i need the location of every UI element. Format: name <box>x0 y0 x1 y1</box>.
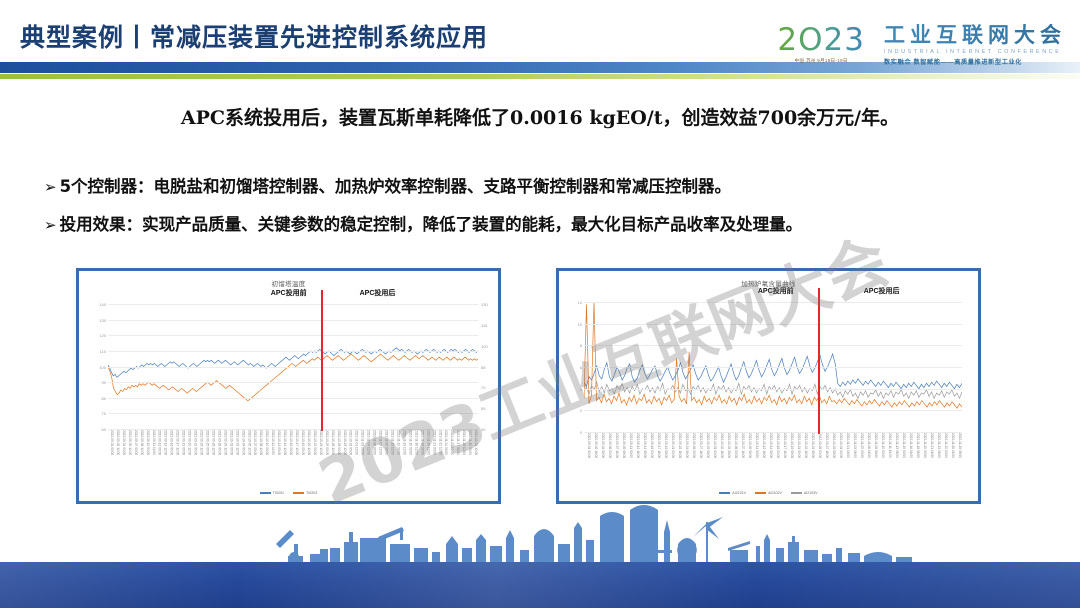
x-tick-label: 2022-10-17 16:00 <box>780 433 787 487</box>
chart-left-annotation-before: APC投用前 <box>271 288 307 298</box>
chart-right-apc-divider <box>818 288 820 434</box>
legend-item: TI0203 <box>293 491 317 495</box>
x-tick-label: 2022-09-01 00:00 <box>584 433 591 487</box>
legend-label: TI0201 <box>273 491 284 495</box>
x-tick-label: 2022-10-14 08:00 <box>766 433 773 487</box>
y-tick-label: 0 <box>568 430 582 435</box>
legend-swatch <box>719 492 730 493</box>
footer-water-band <box>0 562 1080 608</box>
y-tick-label: 10 <box>568 322 582 327</box>
x-tick-label: 2022-09-04 08:00 <box>598 433 605 487</box>
x-tick-label: 2022-10-01 00:00 <box>710 433 717 487</box>
x-tick-label: 2022-09-27 16:00 <box>696 433 703 487</box>
x-tick-label: 2022-10-29 08:00 <box>829 433 836 487</box>
x-tick-label: 2022-09-29 08:00 <box>703 433 710 487</box>
y-tick-label: 6 <box>568 365 582 370</box>
legend-item: AI2102V <box>755 491 782 495</box>
x-tick-label: 2022-10-07 16:00 <box>738 433 745 487</box>
logo-slogan: 数实融合 数智赋能——高质量推进新型工业化 <box>884 57 1066 66</box>
y-tick-label: 8 <box>568 343 582 348</box>
x-tick-label: 2022-10-06 00:00 <box>731 433 738 487</box>
x-tick-label: 2022-09-07 16:00 <box>612 433 619 487</box>
x-tick-label: 2022-11-16 16:00 <box>906 433 913 487</box>
x-tick-label: 2022-11-20 00:00 <box>920 433 927 487</box>
x-tick-label: 2022-11-05 00:00 <box>857 433 864 487</box>
x-tick-label: 2022-09-11 00:00 <box>626 433 633 487</box>
x-tick-label: 2022-09-22 16:00 <box>675 433 682 487</box>
lead-statement: APC系统投用后，装置瓦斯单耗降低了0.0016 kgEO/t，创造效益700余… <box>0 103 1080 130</box>
y-tick-label: 120 <box>92 333 106 338</box>
chart-left-title: 初馏塔温度 <box>82 278 495 288</box>
x-tick-label: 2022-09-26 00:00 <box>689 433 696 487</box>
gridline <box>108 413 478 414</box>
bullet-item-effects: ➢投用效果：实现产品质量、关键参数的稳定控制，降低了装置的能耗，最大化目标产品收… <box>44 211 802 235</box>
x-tick-label: 2022-11-25 00:00 <box>941 433 948 487</box>
bullet-marker-icon: ➢ <box>44 178 57 196</box>
x-tick-label: 2022-09-19 08:00 <box>661 433 668 487</box>
chart-left-container: 初馏塔温度 APC投用前 APC投用后 60708090100110120130… <box>76 268 501 504</box>
y2-tick-label: 130 <box>481 302 488 307</box>
gridline <box>108 335 478 336</box>
x-tick-label: 2022-10-09 08:00 <box>745 433 752 487</box>
chart-right-annotation-after: APC投用后 <box>864 286 900 296</box>
chart-left-inner: 初馏塔温度 APC投用前 APC投用后 60708090100110120130… <box>82 274 495 498</box>
chart-right-legend: AI2101VAI2102VAI2103V <box>562 491 975 495</box>
page-title: 典型案例丨常减压装置先进控制系统应用 <box>20 18 488 54</box>
chart-left-annotation-after: APC投用后 <box>360 288 396 298</box>
bullet-item-controllers: ➢5个控制器：电脱盐和初馏塔控制器、加热炉效率控制器、支路平衡控制器和常减压控制… <box>44 173 731 197</box>
conference-logo: 2O23 中国·苏州 9月19日-19日 工业互联网大会 INDUSTRIAL … <box>777 24 1066 70</box>
gridline <box>584 410 962 411</box>
chart-left-apc-divider <box>321 290 323 431</box>
logo-year: 2O23 <box>777 24 865 56</box>
gridline <box>584 345 962 346</box>
header-divider-green <box>0 74 1080 79</box>
gridline <box>584 367 962 368</box>
x-tick-label: 2022-09-02 16:00 <box>591 433 598 487</box>
x-tick-label: 2022-11-26 16:00 <box>948 433 955 487</box>
gridline <box>584 302 962 303</box>
y-tick-label: 12 <box>568 300 582 305</box>
legend-swatch <box>791 492 802 493</box>
x-tick-label: 2022-11-10 00:00 <box>878 433 885 487</box>
y2-tick-label: 85 <box>481 365 485 370</box>
x-tick-label: 2022-09-24 08:00 <box>682 433 689 487</box>
y-tick-label: 110 <box>92 349 106 354</box>
y2-tick-label: 100 <box>481 344 488 349</box>
x-tick-label: 2022-09-21 00:00 <box>668 433 675 487</box>
chart-right-x-axis: 2022-09-01 00:002022-09-02 16:002022-09-… <box>584 433 962 487</box>
x-tick-label: 2022-09-14 08:00 <box>640 433 647 487</box>
x-tick-label: 2022-11-01 16:00 <box>843 433 850 487</box>
y2-tick-label: 55 <box>481 406 485 411</box>
x-tick-label: 2022-11-06 16:00 <box>864 433 871 487</box>
legend-swatch <box>755 492 766 493</box>
logo-chinese-name: 工业互联网大会 <box>884 24 1066 47</box>
chart-right-container: 加热炉氧含量曲线 APC投用前 APC投用后 024681012 2022-09… <box>556 268 981 504</box>
gridline <box>108 367 478 368</box>
y-tick-label: 80 <box>92 396 106 401</box>
x-tick-label: 2022-10-12 16:00 <box>759 433 766 487</box>
x-tick-label: 2022-10-04 08:00 <box>724 433 731 487</box>
gridline <box>108 351 478 352</box>
y-tick-label: 140 <box>92 302 106 307</box>
x-tick-label: 2022-10-02 16:00 <box>717 433 724 487</box>
x-tick-label: 2022-09-17 16:00 <box>654 433 661 487</box>
y2-tick-label: 40 <box>481 427 485 432</box>
slide: 典型案例丨常减压装置先进控制系统应用 2O23 中国·苏州 9月19日-19日 … <box>0 0 1080 608</box>
x-tick-label: 2022-10-24 08:00 <box>808 433 815 487</box>
logo-year-block: 2O23 中国·苏州 9月19日-19日 <box>777 24 874 64</box>
legend-label: AI2101V <box>732 491 746 495</box>
city-skyline-graphic <box>0 504 1080 566</box>
chart-left-x-axis: 2022-09-01 00:002022-09-02 12:002022-09-… <box>108 430 478 482</box>
x-tick-label: 2022-11-13 08:00 <box>892 433 899 487</box>
chart-left-legend: TI0201TI0203 <box>82 491 495 495</box>
legend-label: AI2103V <box>804 491 818 495</box>
x-tick-label: 2022-09-12 16:00 <box>633 433 640 487</box>
bullet-marker-icon: ➢ <box>44 216 57 234</box>
logo-english-name: INDUSTRIAL INTERNET CONFERENCE <box>884 49 1066 55</box>
x-tick-label: 2022-10-31 00:00 <box>836 433 843 487</box>
series-line <box>108 354 478 401</box>
chart-right-annotation-before: APC投用前 <box>758 286 794 296</box>
y2-tick-label: 70 <box>481 385 485 390</box>
legend-item: TI0201 <box>260 491 284 495</box>
legend-item: AI2103V <box>791 491 818 495</box>
x-tick-label: 2022-10-16 00:00 <box>773 433 780 487</box>
x-tick-label: 2022-10-21 00:00 <box>794 433 801 487</box>
chart-right-inner: 加热炉氧含量曲线 APC投用前 APC投用后 024681012 2022-09… <box>562 274 975 498</box>
series-line <box>584 382 962 398</box>
legend-label: AI2102V <box>768 491 782 495</box>
x-tick-label: 2022-09-09 08:00 <box>619 433 626 487</box>
y-tick-label: 90 <box>92 380 106 385</box>
legend-label: TI0203 <box>306 491 317 495</box>
gridline <box>108 382 478 383</box>
x-tick-label: 2022-11-11 16:00 <box>885 433 892 487</box>
x-tick-label: 2022-11-21 16:00 <box>927 433 934 487</box>
x-tick-label: 2022-09-06 00:00 <box>605 433 612 487</box>
series-line <box>584 354 962 389</box>
gridline <box>108 304 478 305</box>
x-tick-label: 2022-10-19 08:00 <box>787 433 794 487</box>
y-tick-label: 70 <box>92 411 106 416</box>
y-tick-label: 4 <box>568 387 582 392</box>
legend-item: AI2101V <box>719 491 746 495</box>
x-tick-label: 2022-11-18 08:00 <box>913 433 920 487</box>
x-tick-label: 2022-11-23 08:00 <box>934 433 941 487</box>
x-tick-label: 2022-11-08 08:00 <box>871 433 878 487</box>
x-tick-label: 2022-10-26 00:00 <box>815 433 822 487</box>
y-tick-label: 2 <box>568 408 582 413</box>
gridline <box>584 324 962 325</box>
x-tick-label: 2022-10-27 16:00 <box>822 433 829 487</box>
y-tick-label: 60 <box>92 427 106 432</box>
x-tick-label: 2022-12-01 12:00 <box>472 430 478 482</box>
x-tick-label: 2022-11-28 08:00 <box>955 433 962 487</box>
x-tick-label: 2022-09-16 00:00 <box>647 433 654 487</box>
x-tick-label: 2022-11-15 00:00 <box>899 433 906 487</box>
bullet-text: 5个控制器：电脱盐和初馏塔控制器、加热炉效率控制器、支路平衡控制器和常减压控制器… <box>60 177 731 196</box>
gridline <box>108 320 478 321</box>
legend-swatch <box>260 492 271 493</box>
series-line <box>108 348 478 378</box>
x-tick-label: 2022-11-03 08:00 <box>850 433 857 487</box>
x-tick-label: 2022-10-11 00:00 <box>752 433 759 487</box>
gridline <box>108 398 478 399</box>
bullet-text: 投用效果：实现产品质量、关键参数的稳定控制，降低了装置的能耗，最大化目标产品收率… <box>60 215 803 234</box>
logo-text-block: 工业互联网大会 INDUSTRIAL INTERNET CONFERENCE 数… <box>884 24 1066 66</box>
logo-year-subtitle: 中国·苏州 9月19日-19日 <box>795 58 848 64</box>
legend-swatch <box>293 492 304 493</box>
gridline <box>584 389 962 390</box>
y-tick-label: 100 <box>92 365 106 370</box>
x-tick-label: 2022-10-22 16:00 <box>801 433 808 487</box>
y2-tick-label: 115 <box>481 323 487 328</box>
y-tick-label: 130 <box>92 318 106 323</box>
